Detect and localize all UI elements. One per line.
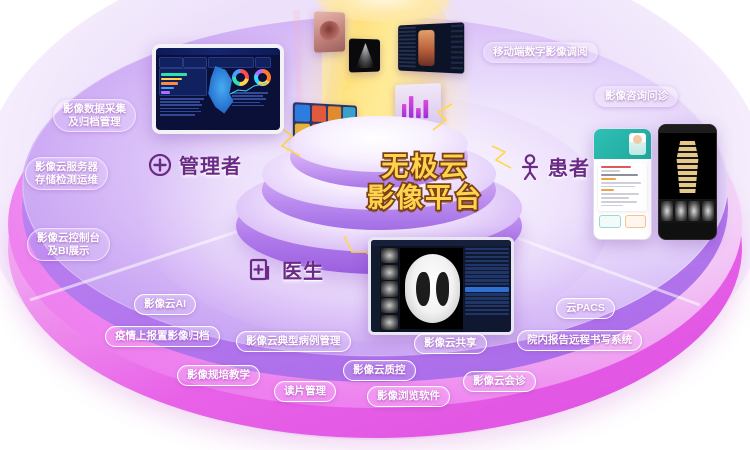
pill-line1: 影像云会诊 — [473, 375, 526, 388]
pill-cloud-ai[interactable]: 影像云AI — [134, 294, 196, 315]
pill-line1: 影像咨询问诊 — [605, 90, 668, 103]
role-patient[interactable]: 患者 — [519, 152, 590, 181]
pill-line1: 影像浏览软件 — [377, 390, 440, 403]
pill-cloud-share[interactable]: 影像云共享 — [414, 333, 487, 354]
patient-phone-3d-device[interactable] — [658, 124, 717, 240]
pill-image-consult[interactable]: 影像咨询问诊 — [595, 86, 678, 107]
pill-line1: 影像云AI — [144, 298, 186, 311]
pill-line1: 影像云质控 — [353, 364, 406, 377]
pill-typical-cases[interactable]: 影像云典型病例管理 — [236, 331, 351, 352]
role-label: 患者 — [548, 152, 590, 181]
pill-cloud-pacs[interactable]: 云PACS — [556, 298, 615, 319]
pill-line1: 云PACS — [566, 302, 605, 315]
pill-line2: 存储检测运维 — [35, 174, 98, 187]
pill-console-bi[interactable]: 影像云控制台 及BI展示 — [27, 228, 110, 261]
pill-remote-report[interactable]: 院内报告远程书写系统 — [517, 330, 642, 351]
infographic-canvas: 管理者 患者 医生 无极云 影像平台 影像数据采集 及归档管理 — [0, 0, 750, 450]
pill-cloud-consult[interactable]: 影像云会诊 — [463, 371, 536, 392]
role-label: 管理者 — [179, 150, 242, 179]
platform-title-line2: 影像平台 — [330, 183, 520, 214]
pill-line1: 影像云控制台 — [37, 232, 100, 245]
pill-line1: 读片管理 — [284, 385, 326, 398]
pill-line1: 疫情上报置影像归档 — [115, 330, 210, 343]
pill-line1: 移动端数字影像调阅 — [493, 46, 588, 59]
role-label: 医生 — [282, 255, 324, 284]
platform-title: 无极云 影像平台 — [330, 152, 520, 214]
pill-line2: 及归档管理 — [63, 116, 126, 129]
pill-cloud-server[interactable]: 影像云服务器 存储检测运维 — [25, 157, 108, 190]
pacs-viewer-device[interactable] — [368, 237, 514, 335]
pill-mobile-image-view[interactable]: 移动端数字影像调阅 — [483, 42, 598, 63]
pill-line1: 影像云共享 — [424, 337, 477, 350]
role-administrator[interactable]: 管理者 — [148, 150, 242, 179]
pill-line1: 影像云服务器 — [35, 161, 98, 174]
pill-cloud-qc[interactable]: 影像云质控 — [343, 360, 416, 381]
bi-dashboard-device[interactable] — [152, 44, 284, 134]
pill-viewer-software[interactable]: 影像浏览软件 — [367, 386, 450, 407]
patient-phone-report-device[interactable] — [593, 128, 652, 240]
pill-line2: 及BI展示 — [37, 245, 100, 258]
person-icon — [519, 154, 541, 180]
pill-epidemic-archive[interactable]: 疫情上报置影像归档 — [105, 326, 220, 347]
pill-line1: 影像云典型病例管理 — [246, 335, 341, 348]
connector-core — [433, 104, 452, 130]
pill-line1: 影像规培教学 — [187, 369, 250, 382]
role-doctor[interactable]: 医生 — [249, 255, 324, 284]
pill-line1: 影像数据采集 — [63, 103, 126, 116]
pill-film-reading[interactable]: 读片管理 — [274, 381, 336, 402]
platform-title-line1: 无极云 — [382, 152, 469, 182]
pill-line1: 院内报告远程书写系统 — [527, 334, 632, 347]
pill-standard-teaching[interactable]: 影像规培教学 — [177, 365, 260, 386]
circle-plus-icon — [148, 153, 172, 177]
pill-data-collection[interactable]: 影像数据采集 及归档管理 — [53, 99, 136, 132]
document-plus-icon — [249, 257, 275, 283]
